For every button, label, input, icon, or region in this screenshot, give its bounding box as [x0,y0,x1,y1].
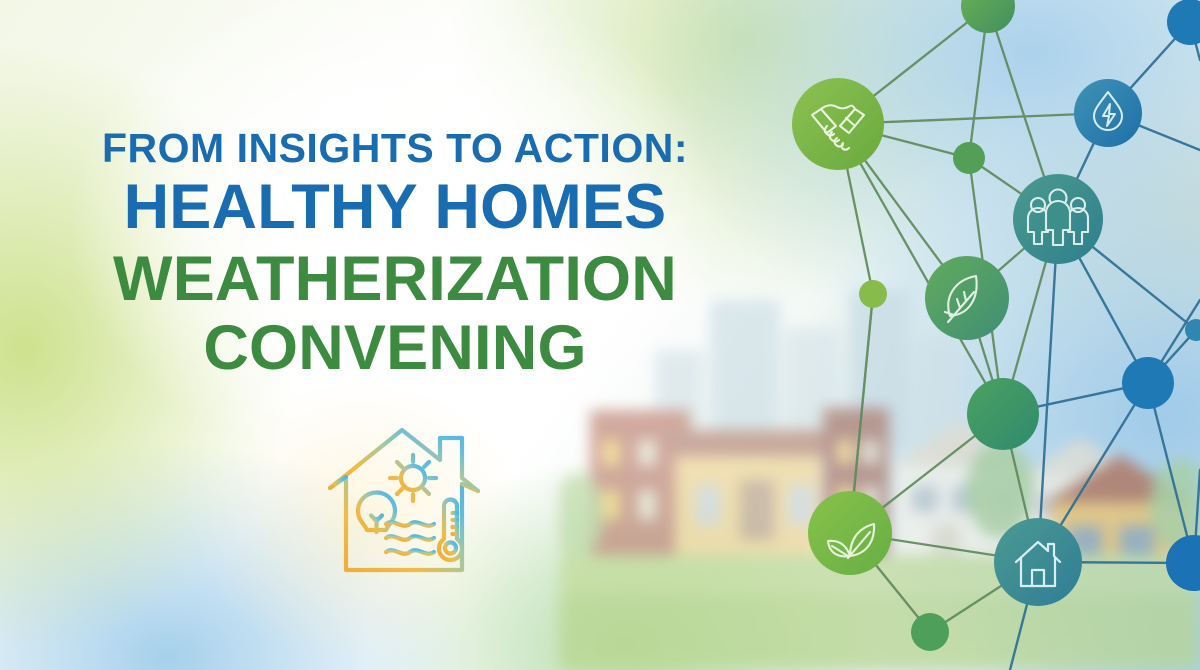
network-node-handshake [792,78,884,170]
headline-line-1: FROM INSIGHTS TO ACTION: [0,128,790,169]
network-node-right-blue [1122,357,1174,409]
network-node-home [994,518,1082,606]
network-node-community [1013,174,1103,264]
network-node-leaves [808,491,892,575]
headline-line-3: WEATHERIZATION [0,248,790,311]
network-node-leaf [925,256,1009,340]
headline-line-4: CONVENING [0,317,790,380]
network-node-center [967,378,1039,450]
network-node-left-small [859,280,887,308]
network-node-mid-small [953,142,985,174]
network-node-far-right [1166,535,1200,591]
headline-line-2: HEALTHY HOMES [0,176,790,239]
network-node-topright [1167,0,1200,45]
banner-graphic: FROM INSIGHTS TO ACTION: HEALTHY HOMES W… [0,0,1200,670]
network-node-energy [1074,79,1142,147]
connected-network-graphic [760,0,1200,670]
healthy-home-energy-icon [312,418,490,590]
network-node-lower-small [911,613,949,651]
headline-block: FROM INSIGHTS TO ACTION: HEALTHY HOMES W… [0,128,790,380]
network-node-top [961,0,1015,33]
